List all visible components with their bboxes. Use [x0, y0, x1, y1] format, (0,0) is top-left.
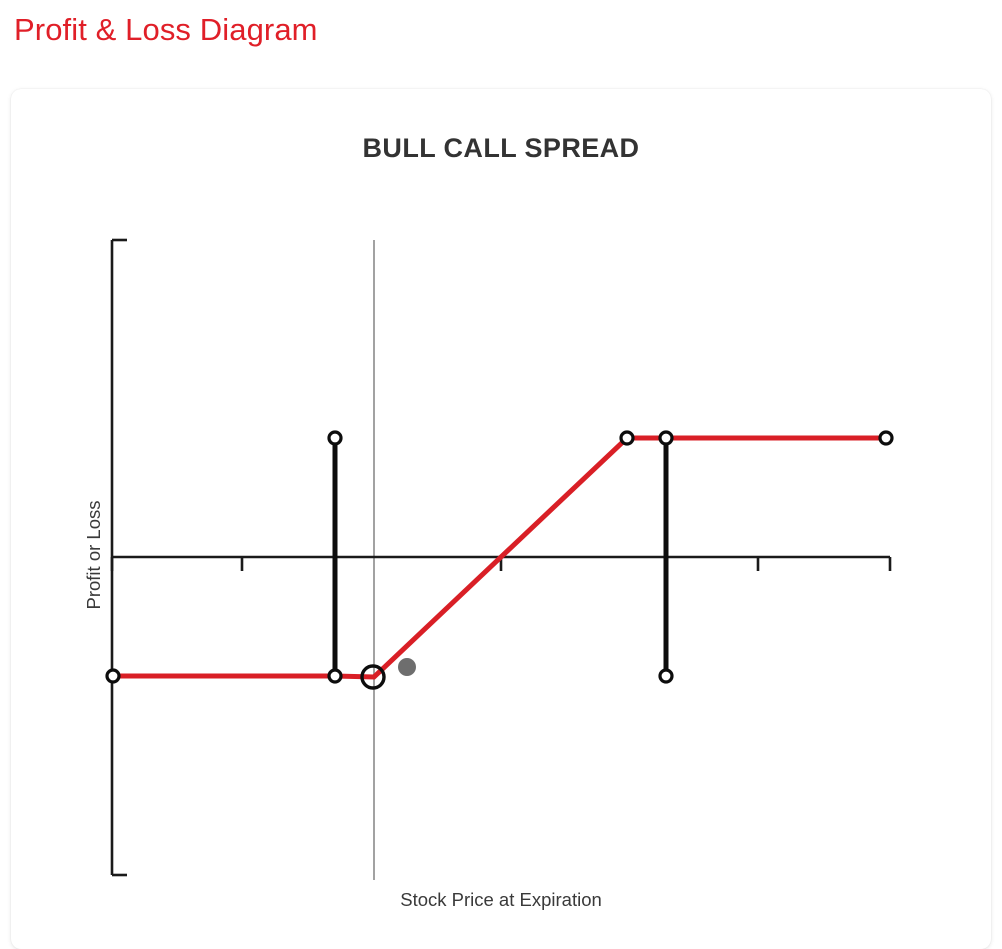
short-leg-bottom-marker — [660, 670, 672, 682]
long-leg-bottom-marker — [329, 670, 341, 682]
payoff-right-cap-marker — [880, 432, 892, 444]
long-leg-top-marker — [329, 432, 341, 444]
short-leg-top-marker — [660, 432, 672, 444]
chart-card: BULL CALL SPREAD — [11, 89, 991, 949]
profit-loss-chart: Profit or Loss Stock Price at Expiration — [11, 89, 991, 949]
payoff-upper-knee-marker — [621, 432, 633, 444]
page-title: Profit & Loss Diagram — [14, 9, 318, 51]
y-axis-label: Profit or Loss — [83, 501, 104, 610]
payoff-left-cap-marker — [107, 670, 119, 682]
x-axis-label: Stock Price at Expiration — [400, 889, 602, 910]
spot-price-dot[interactable] — [398, 658, 416, 676]
